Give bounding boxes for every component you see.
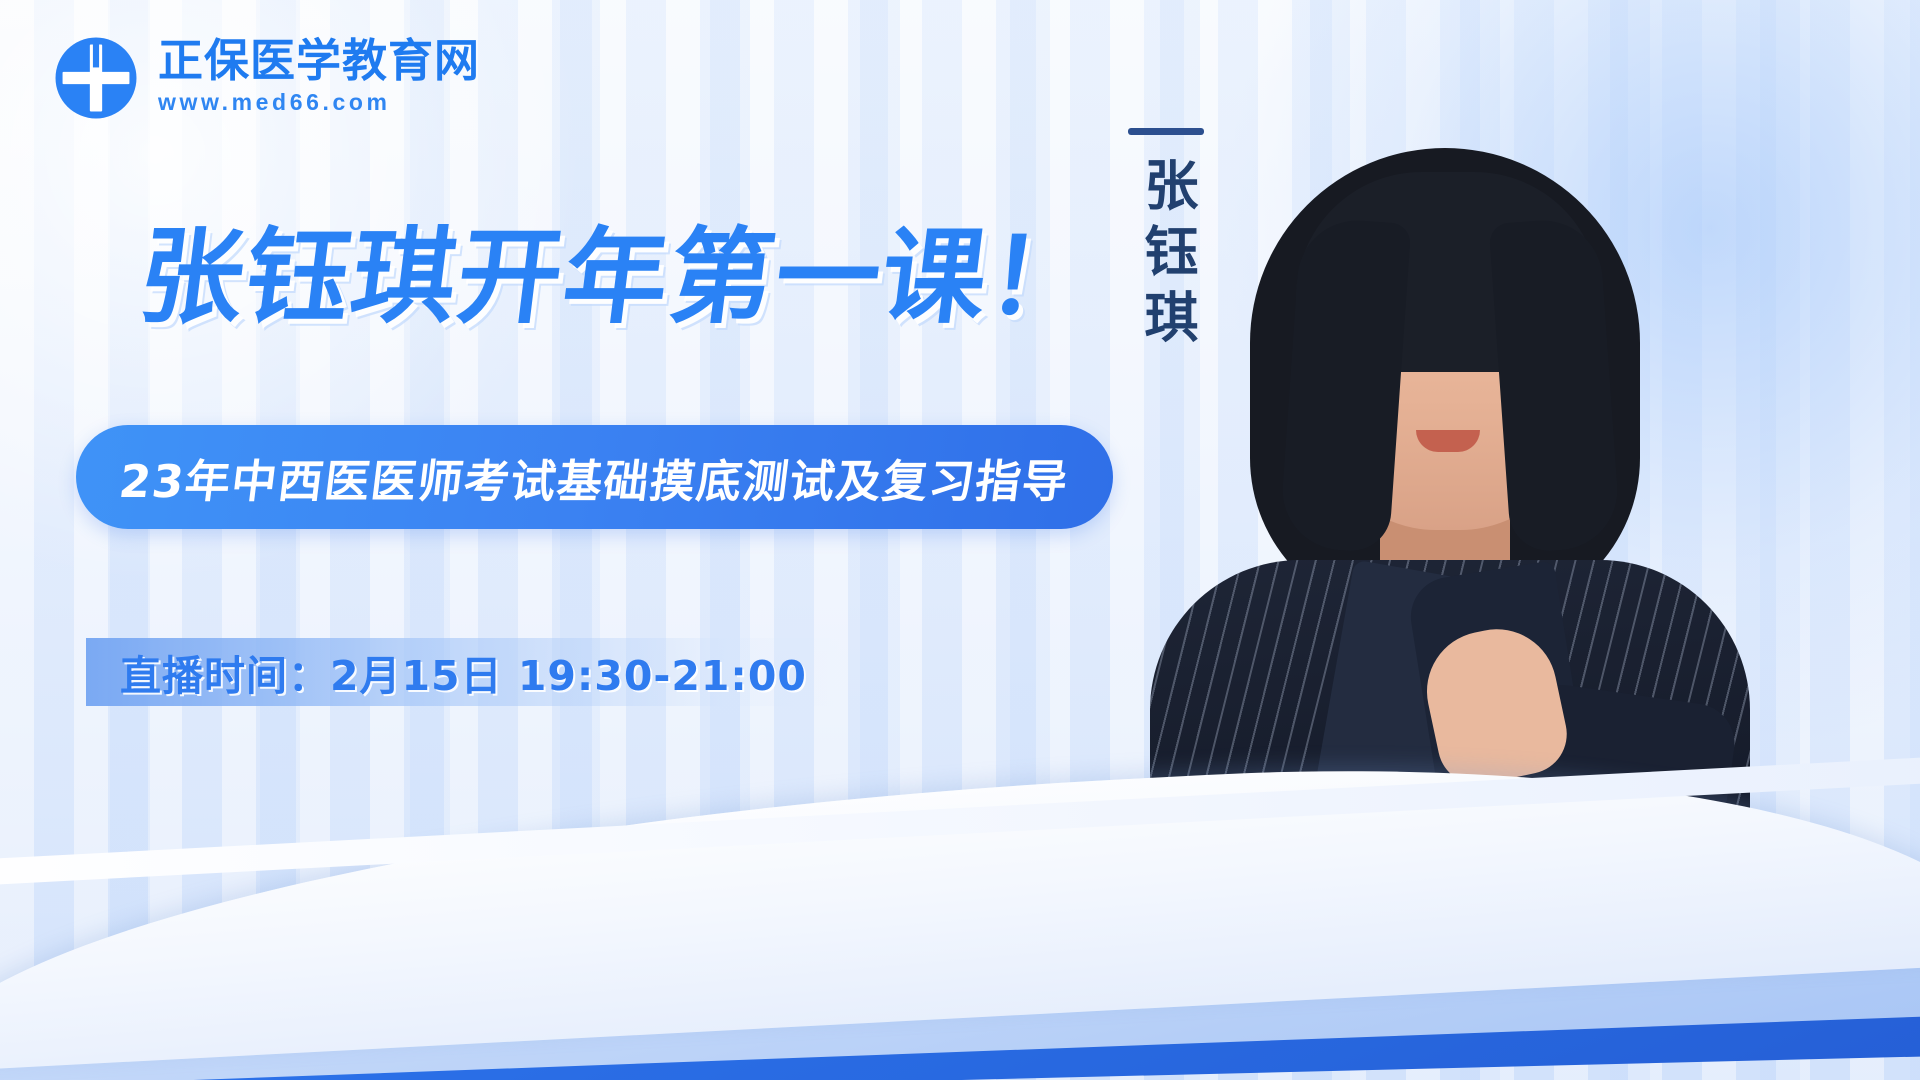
schedule-band: 直播时间：2月15日 19:30-21:00 — [86, 638, 841, 706]
promo-banner: 正保医学教育网 www.med66.com 张钰琪 张钰琪开年第一课！ 23年中… — [0, 0, 1920, 1080]
brand-website: www.med66.com — [158, 88, 480, 118]
brand-name: 正保医学教育网 — [158, 38, 480, 85]
medical-cross-circle-icon — [52, 34, 140, 122]
hero-subtitle: 23年中西医医师考试基础摸底测试及复习指导 — [116, 445, 1073, 510]
hero-headline: 张钰琪开年第一课！ — [133, 222, 1101, 332]
hair-side-left — [1279, 217, 1412, 554]
brand-logo[interactable]: 正保医学教育网 www.med66.com — [52, 34, 480, 122]
hero-subtitle-pill: 23年中西医医师考试基础摸底测试及复习指导 — [76, 425, 1113, 529]
brand-logo-text: 正保医学教育网 www.med66.com — [158, 38, 480, 119]
schedule-text: 直播时间：2月15日 19:30-21:00 — [120, 642, 807, 702]
name-rule-divider — [1128, 128, 1204, 135]
presenter-name: 张钰琪 — [1139, 157, 1193, 355]
presenter-name-block: 张钰琪 — [1128, 128, 1204, 355]
